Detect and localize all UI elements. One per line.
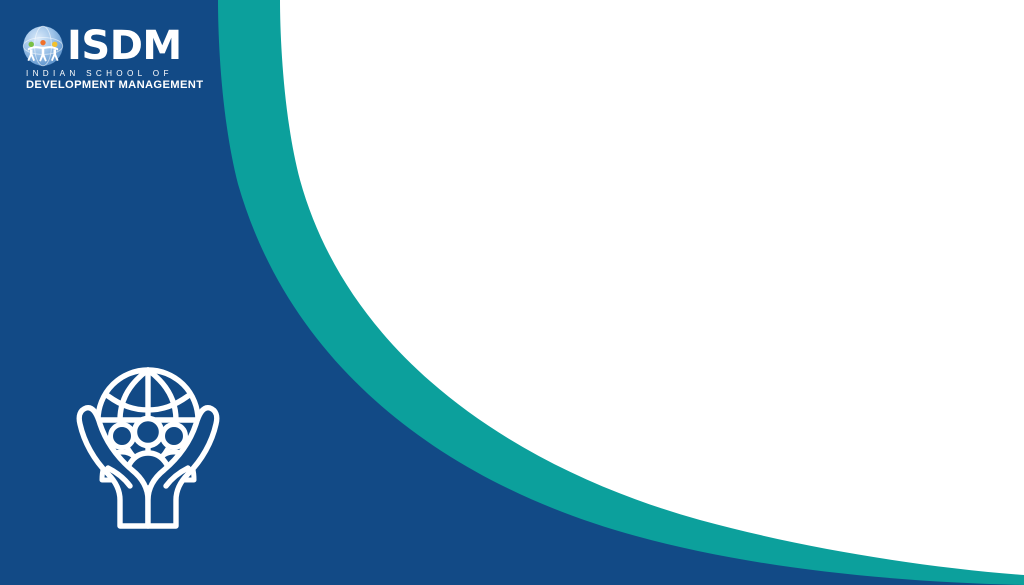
isdm-logo: ISDM INDIAN SCHOOL OF DEVELOPMENT MANAGE…	[22, 24, 197, 96]
logo-row: ISDM	[22, 24, 197, 68]
globe-head-orange	[40, 40, 45, 45]
logo-tagline-line1: INDIAN SCHOOL OF	[26, 69, 197, 79]
logo-wordmark: ISDM	[67, 26, 182, 66]
globe-people-icon	[22, 25, 64, 67]
globe-head-green	[29, 42, 34, 47]
title-slide: ISDM INDIAN SCHOOL OF DEVELOPMENT MANAGE…	[0, 0, 1024, 585]
globe-head-yellow	[52, 42, 57, 47]
logo-tagline-line2: DEVELOPMENT MANAGEMENT	[26, 79, 197, 92]
hands-holding-globe-with-people-icon	[72, 358, 224, 536]
